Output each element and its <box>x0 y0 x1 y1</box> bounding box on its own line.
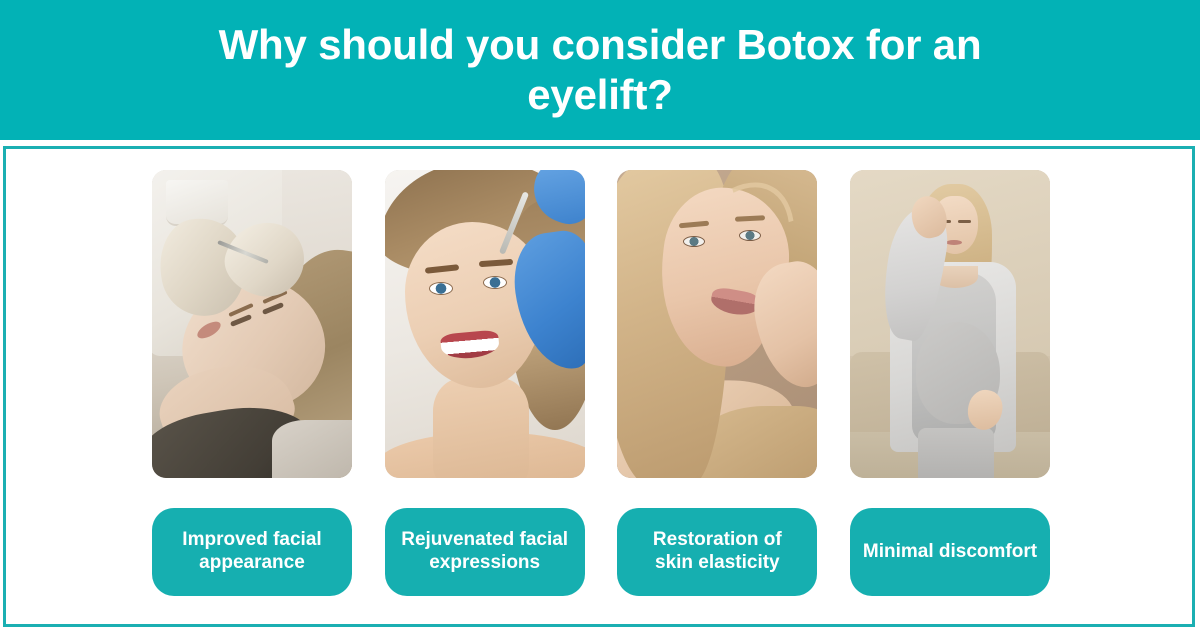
temple-injection-photo <box>385 170 585 478</box>
benefit-pill-1[interactable]: Improved facial appearance <box>152 508 352 596</box>
benefit-card-2 <box>385 170 585 478</box>
infographic-poster: Why should you consider Botox for an eye… <box>0 0 1200 630</box>
skin-portrait-photo <box>617 170 817 478</box>
benefit-labels-row: Improved facial appearance Rejuvenated f… <box>152 508 1050 596</box>
benefit-pill-label-2: Rejuvenated facial expressions <box>401 529 568 575</box>
benefit-pill-label-4: Minimal discomfort <box>863 541 1037 564</box>
benefit-card-1 <box>152 170 352 478</box>
benefit-pill-2[interactable]: Rejuvenated facial expressions <box>385 508 585 596</box>
page-title: Why should you consider Botox for an eye… <box>219 20 982 119</box>
benefit-card-4 <box>850 170 1050 478</box>
benefit-cards-row <box>152 170 1050 478</box>
forehead-injection-photo <box>152 170 352 478</box>
benefit-pill-label-3: Restoration of skin elasticity <box>653 529 782 575</box>
benefit-pill-4[interactable]: Minimal discomfort <box>850 508 1050 596</box>
discomfort-photo <box>850 170 1050 478</box>
header-banner: Why should you consider Botox for an eye… <box>0 0 1200 140</box>
benefit-card-3 <box>617 170 817 478</box>
benefit-pill-label-1: Improved facial appearance <box>182 529 321 575</box>
benefit-pill-3[interactable]: Restoration of skin elasticity <box>617 508 817 596</box>
